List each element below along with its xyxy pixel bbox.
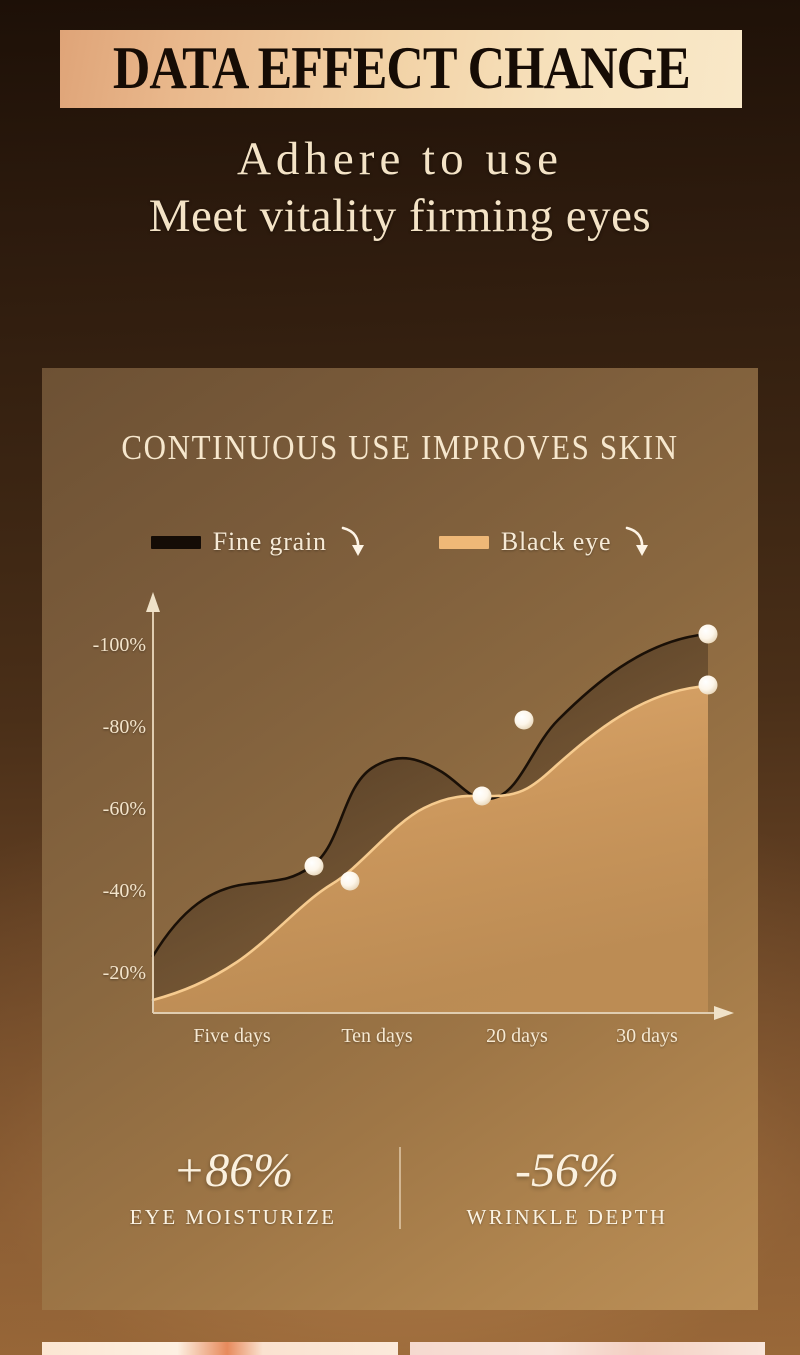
x-tick-label: Ten days: [307, 1025, 447, 1048]
curved-down-arrow-icon: [623, 525, 649, 559]
legend-item-fine-grain[interactable]: Fine grain: [151, 525, 365, 559]
legend-swatch-icon: [151, 536, 201, 549]
thumbnail-row: [42, 1342, 765, 1355]
stat-value: -56%: [417, 1146, 717, 1196]
page-title: DATA EFFECT CHANGE: [113, 39, 690, 99]
subtitle-line-2: Meet vitality firming eyes: [0, 187, 800, 246]
chart-card-heading: CONTINUOUS USE IMPROVES SKIN: [42, 428, 758, 468]
stat-label: WRINKLE DEPTH: [417, 1205, 717, 1230]
legend-label: Fine grain: [213, 527, 327, 557]
stats-row: +86% EYE MOISTURIZE -56% WRINKLE DEPTH: [42, 1128, 758, 1248]
y-tick-label: -100%: [93, 634, 146, 657]
subtitle-block: Adhere to use Meet vitality firming eyes: [0, 132, 800, 246]
y-tick-label: -60%: [103, 798, 146, 821]
legend-label: Black eye: [501, 527, 611, 557]
stat-eye-moisturize: +86% EYE MOISTURIZE: [83, 1146, 383, 1230]
y-tick-label: -80%: [103, 716, 146, 739]
stat-wrinkle-depth: -56% WRINKLE DEPTH: [417, 1146, 717, 1230]
subtitle-line-1: Adhere to use: [0, 132, 800, 187]
stat-value: +86%: [83, 1146, 383, 1196]
x-axis-labels: Five days Ten days 20 days 30 days: [42, 1025, 758, 1059]
thumbnail-right[interactable]: [410, 1342, 766, 1355]
legend-swatch-icon: [439, 536, 489, 549]
y-tick-label: -40%: [103, 880, 146, 903]
x-tick-label: 20 days: [447, 1025, 587, 1048]
curved-down-arrow-icon: [339, 525, 365, 559]
thumbnail-left[interactable]: [42, 1342, 398, 1355]
page-root: DATA EFFECT CHANGE Adhere to use Meet vi…: [0, 0, 800, 1355]
legend-item-black-eye[interactable]: Black eye: [439, 525, 649, 559]
x-tick-label: Five days: [162, 1025, 302, 1048]
title-banner: DATA EFFECT CHANGE: [60, 30, 742, 108]
stat-label: EYE MOISTURIZE: [83, 1205, 383, 1230]
stats-divider: [399, 1147, 401, 1229]
y-tick-label: -20%: [103, 962, 146, 985]
x-tick-label: 30 days: [577, 1025, 717, 1048]
